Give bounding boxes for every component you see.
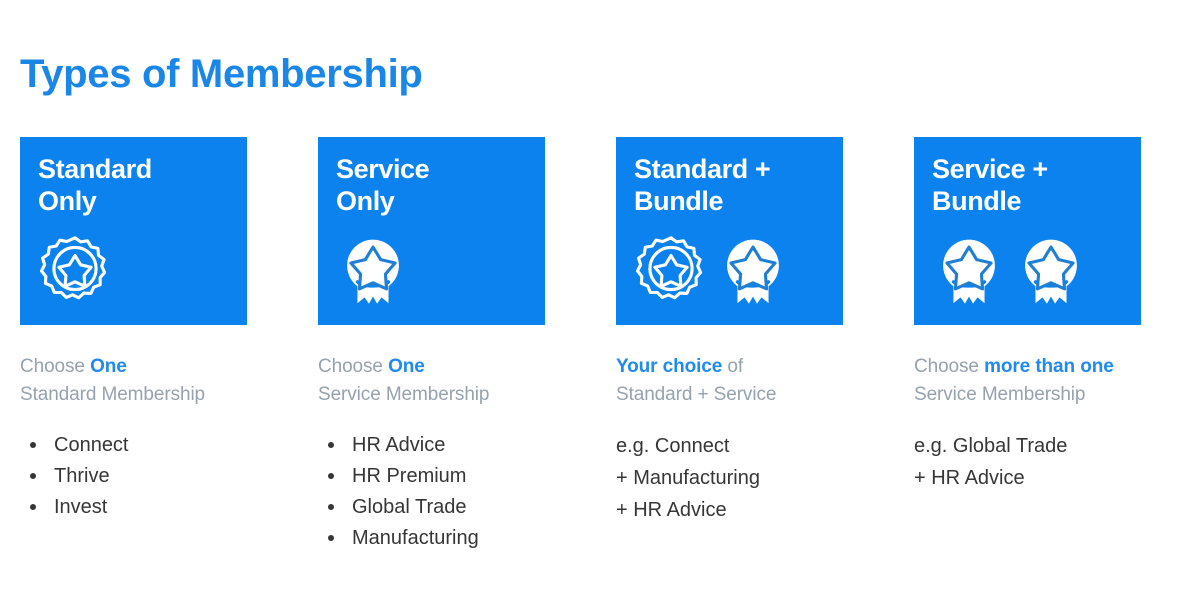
membership-column-service-only: Service Only Choose One Service Membersh… (318, 137, 545, 554)
card-title: Service + Bundle (932, 154, 1123, 218)
card-title: Standard Only (38, 154, 229, 218)
choose-highlight: Your choice (616, 356, 722, 377)
choose-description: Your choice of Standard + Service (616, 353, 843, 408)
choose-prefix: Choose (318, 356, 388, 377)
membership-card-service-bundle[interactable]: Service + Bundle (914, 137, 1141, 325)
choose-line2: Standard Membership (20, 381, 247, 409)
membership-column-service-bundle: Service + Bundle (914, 137, 1141, 554)
membership-column-standard-only: Standard Only Choose One Standard Member… (20, 137, 247, 554)
rosette-badge-star-icon (38, 233, 112, 307)
choose-description: Choose One Standard Membership (20, 353, 247, 408)
choose-prefix: Choose (914, 356, 984, 377)
award-ribbon-star-icon (932, 233, 1006, 307)
award-ribbon-star-icon (1014, 233, 1088, 307)
card-icon-group (932, 233, 1088, 307)
card-icon-group (336, 233, 410, 307)
choose-highlight: One (90, 356, 127, 377)
choose-prefix: Choose (20, 356, 90, 377)
membership-card-service-only[interactable]: Service Only (318, 137, 545, 325)
list-item: Invest (46, 492, 247, 523)
membership-columns: Standard Only Choose One Standard Member… (20, 137, 1140, 554)
award-ribbon-star-icon (336, 233, 410, 307)
rosette-badge-star-icon (634, 233, 708, 307)
card-title: Standard + Bundle (634, 154, 825, 218)
list-item: Thrive (46, 461, 247, 492)
choose-highlight: One (388, 356, 425, 377)
page-title: Types of Membership (20, 52, 423, 96)
list-item: Global Trade (344, 492, 545, 523)
membership-card-standard-bundle[interactable]: Standard + Bundle (616, 137, 843, 325)
example-text: e.g. Connect + Manufacturing + HR Advice (616, 430, 843, 526)
membership-list: HR Advice HR Premium Global Trade Manufa… (318, 430, 545, 554)
membership-column-standard-bundle: Standard + Bundle (616, 137, 843, 554)
list-item: HR Premium (344, 461, 545, 492)
choose-highlight: more than one (984, 356, 1114, 377)
award-ribbon-star-icon (716, 233, 790, 307)
card-icon-group (38, 233, 112, 307)
list-item: Connect (46, 430, 247, 461)
choose-line2: Standard + Service (616, 381, 843, 409)
choose-line2: Service Membership (318, 381, 545, 409)
choose-description: Choose One Service Membership (318, 353, 545, 408)
membership-card-standard-only[interactable]: Standard Only (20, 137, 247, 325)
card-title: Service Only (336, 154, 527, 218)
list-item: HR Advice (344, 430, 545, 461)
membership-list: Connect Thrive Invest (20, 430, 247, 523)
list-item: Manufacturing (344, 523, 545, 554)
choose-description: Choose more than one Service Membership (914, 353, 1141, 408)
choose-line2: Service Membership (914, 381, 1141, 409)
card-icon-group (634, 233, 790, 307)
slide-root: Types of Membership Standard Only Cho (0, 0, 1200, 600)
choose-suffix: of (722, 356, 743, 377)
example-text: e.g. Global Trade + HR Advice (914, 430, 1141, 494)
